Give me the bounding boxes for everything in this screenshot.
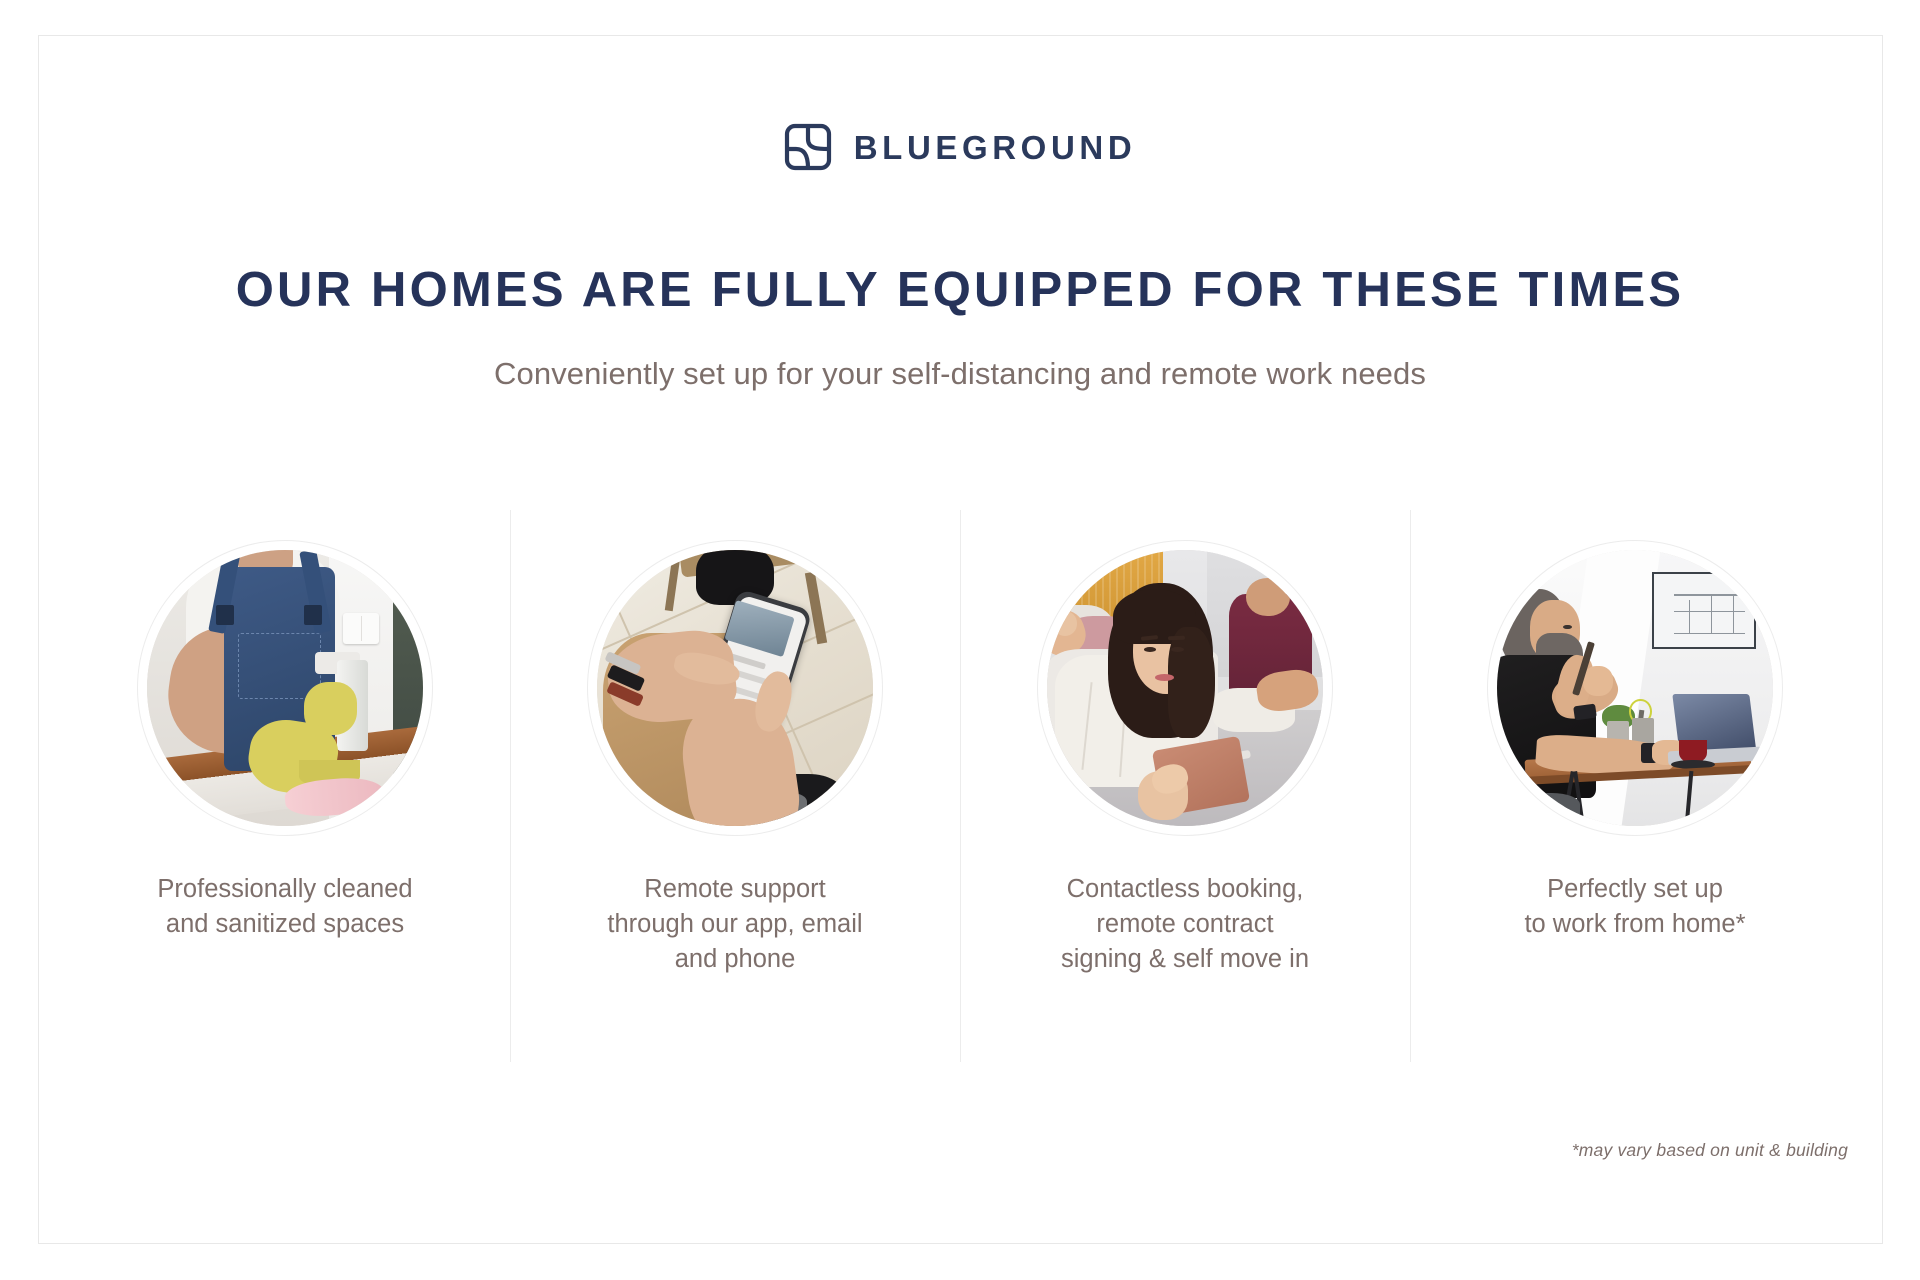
blueground-square-logo-icon [784,123,832,171]
brand-logo: BLUEGROUND [0,123,1920,171]
work-from-home-photo-ring [1487,540,1783,836]
work-from-home-photo [1497,550,1773,826]
feature-caption: Remote support through our app, email an… [570,872,900,978]
feature-caption: Professionally cleaned and sanitized spa… [120,872,450,942]
cleaning-photo [147,550,423,826]
feature-column-professionally-cleaned: Professionally cleaned and sanitized spa… [60,510,510,1062]
phone-support-photo [597,550,873,826]
tablet-booking-photo-ring [1037,540,1333,836]
page-subtitle: Conveniently set up for your self-distan… [0,355,1920,394]
poster-root: BLUEGROUND OUR HOMES ARE FULLY EQUIPPED … [0,0,1920,1280]
feature-column-work-from-home: Perfectly set up to work from home* [1410,510,1860,1062]
tablet-booking-photo [1047,550,1323,826]
feature-column-contactless-booking: Contactless booking, remote contract sig… [960,510,1410,1062]
page-title: OUR HOMES ARE FULLY EQUIPPED FOR THESE T… [0,264,1920,317]
feature-column-remote-support: Remote support through our app, email an… [510,510,960,1062]
feature-caption: Contactless booking, remote contract sig… [1020,872,1350,978]
phone-support-photo-ring [587,540,883,836]
cleaning-photo-ring [137,540,433,836]
feature-columns: Professionally cleaned and sanitized spa… [60,510,1860,1062]
footnote-disclaimer: *may vary based on unit & building [1572,1140,1848,1161]
feature-caption: Perfectly set up to work from home* [1470,872,1800,942]
brand-wordmark: BLUEGROUND [854,131,1137,164]
